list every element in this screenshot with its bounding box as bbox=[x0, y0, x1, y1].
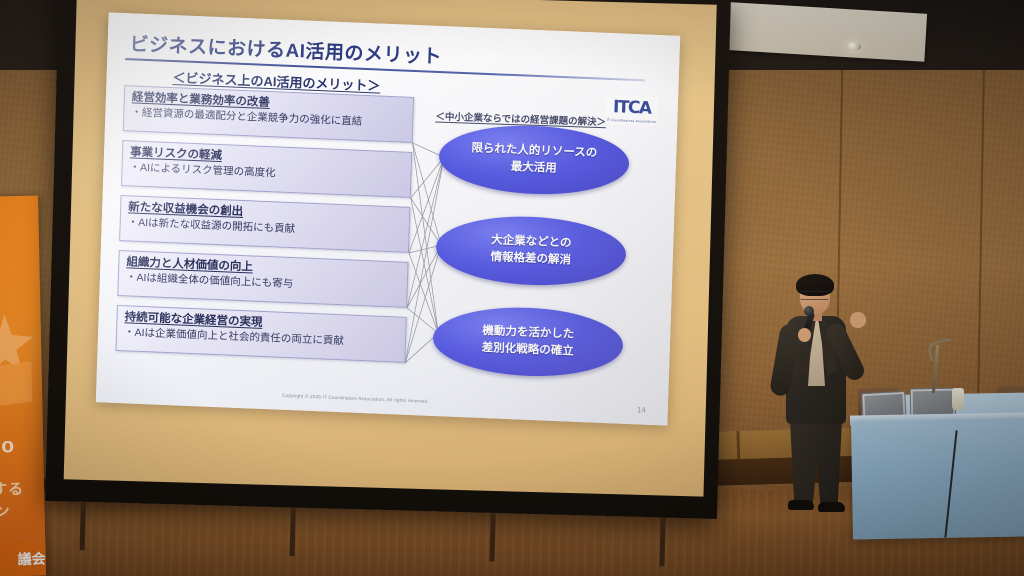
presenter-hand-right bbox=[850, 312, 866, 328]
outcome-line-1: 大企業などとの bbox=[491, 235, 572, 250]
ceiling-light-2 bbox=[846, 42, 861, 51]
outcome-ellipse[interactable]: 限られた人的リソースの 最大活用 bbox=[438, 122, 630, 198]
outcome-ellipse-list: 限られた人的リソースの 最大活用 大企業などとの 情報格差の解消 機動力を活かし… bbox=[431, 122, 660, 404]
microphone-head-icon bbox=[804, 306, 814, 316]
outcome-line-1: 限られた人的リソースの bbox=[471, 143, 597, 160]
benefit-box[interactable]: 新たな収益機会の創出 ・AIは新たな収益源の開拓にも貢献 bbox=[119, 195, 410, 253]
outcome-ellipse-text: 大企業などとの 情報格差の解消 bbox=[490, 233, 572, 270]
conference-room-scene: o する ン 議会 ビジネスにおけるAI活用のメリット ＜ビジネス上のAI活用の… bbox=[0, 0, 1024, 576]
outcome-ellipse-text: 機動力を活かした 差別化戦略の確立 bbox=[481, 323, 574, 360]
glasses-icon bbox=[800, 291, 829, 300]
outcome-line-2: 情報格差の解消 bbox=[490, 251, 571, 266]
itca-logo-mark: ITCA bbox=[613, 99, 651, 118]
water-bottle bbox=[952, 388, 964, 410]
banner-text-line1: する bbox=[0, 478, 24, 500]
slide-copyright: Copyright © 2025 IT Coordinators Associa… bbox=[282, 393, 429, 404]
benefit-box[interactable]: 持続可能な企業経営の実現 ・AIは企業価値向上と社会的責任の両立に貢献 bbox=[115, 305, 406, 363]
screen-leg-3 bbox=[489, 513, 495, 561]
outcome-line-2: 最大活用 bbox=[511, 161, 557, 175]
banner-footer-text: 議会 bbox=[0, 541, 46, 576]
screen-leg-2 bbox=[290, 508, 296, 556]
presenter-shoe-left bbox=[788, 500, 814, 510]
benefit-box[interactable]: 事業リスクの軽減 ・AIによるリスク管理の高度化 bbox=[121, 140, 412, 198]
table-front-cloth bbox=[851, 418, 1024, 539]
benefit-box[interactable]: 組織力と人材価値の向上 ・AIは組織全体の価値向上にも寄与 bbox=[117, 250, 408, 308]
screen-leg-1 bbox=[80, 502, 86, 550]
itca-logo: ITCA IT Coordinators Association bbox=[605, 95, 658, 127]
outcome-ellipse-text: 限られた人的リソースの 最大活用 bbox=[471, 141, 598, 179]
itca-logo-subtitle: IT Coordinators Association bbox=[607, 117, 657, 123]
banner-graphic-block bbox=[0, 362, 32, 407]
outcome-ellipse[interactable]: 機動力を活かした 差別化戦略の確立 bbox=[432, 304, 624, 380]
outcome-line-2: 差別化戦略の確立 bbox=[482, 342, 574, 358]
outcome-ellipse[interactable]: 大企業などとの 情報格差の解消 bbox=[435, 213, 627, 289]
banner-letter: o bbox=[1, 434, 14, 458]
screen-leg-4 bbox=[659, 518, 665, 566]
presenter-legs bbox=[790, 420, 842, 504]
presentation-slide: ビジネスにおけるAI活用のメリット ＜ビジネス上のAI活用のメリット＞ ＜中小企… bbox=[96, 12, 680, 425]
banner-text-line2: ン bbox=[0, 500, 10, 521]
presenter-hand-left bbox=[798, 328, 811, 342]
benefit-box-list: 経営効率と業務効率の改善 ・経営資源の最適配分と企業競争力の強化に直結 事業リス… bbox=[115, 85, 414, 372]
slide-page-number: 14 bbox=[637, 405, 646, 414]
presenter-shoe-right bbox=[818, 502, 845, 512]
outcome-line-1: 機動力を活かした bbox=[482, 325, 574, 341]
event-banner: o する ン 議会 bbox=[0, 196, 46, 576]
